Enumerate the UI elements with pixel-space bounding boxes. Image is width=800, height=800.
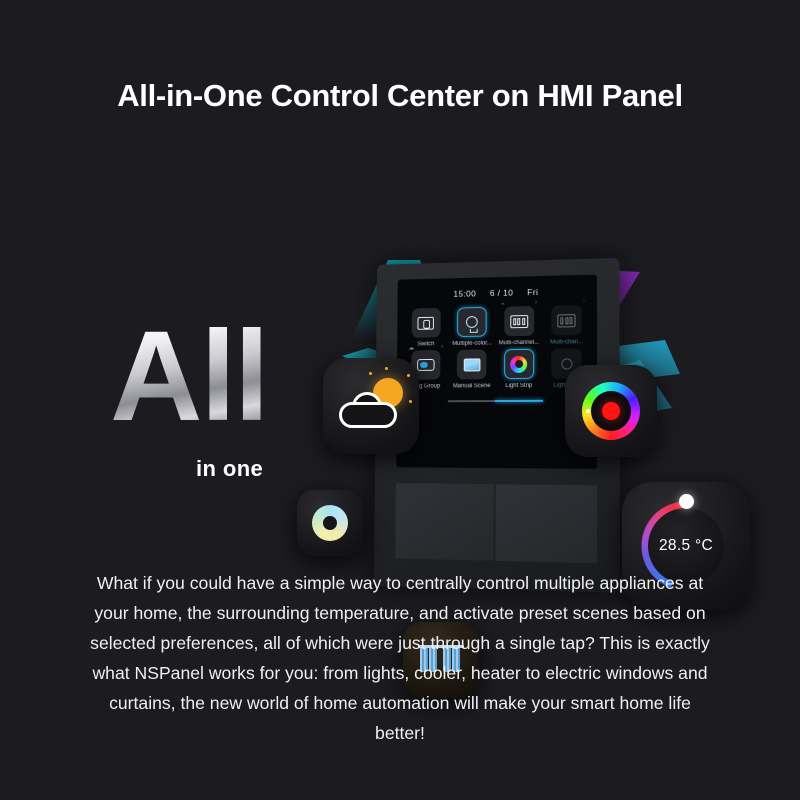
- hero-illustration: All in one 15:00 6 / 10 Fri Switch: [0, 160, 800, 560]
- scene-image-icon: [463, 358, 480, 371]
- rgb-ring-icon: [510, 355, 527, 372]
- bulb-icon: [466, 316, 478, 328]
- weather-bubble[interactable]: [323, 358, 419, 454]
- panel-tile-grid: Switch Multiple-color... ⌁ › Multi-chann…: [397, 296, 597, 390]
- panel-tile-multi-channel-1[interactable]: ⌁ › Multi-channel...: [496, 306, 541, 347]
- tile-label: Multi-chan...: [550, 339, 583, 345]
- lamp-icon: [561, 358, 572, 369]
- status-time: 15:00: [453, 288, 476, 298]
- status-date: 6 / 10: [490, 288, 513, 298]
- page-dot-1[interactable]: [448, 400, 495, 402]
- chevron-right-icon[interactable]: ›: [583, 299, 585, 305]
- gradient-ring-icon: [312, 505, 348, 541]
- tile-label: Light Strip: [505, 383, 532, 389]
- wifi-icon: ⌁: [501, 301, 505, 308]
- body-paragraph: What if you could have a simple way to c…: [84, 568, 716, 748]
- cloud-icon: [339, 392, 397, 428]
- multi-channel-icon: [510, 315, 528, 328]
- panel-physical-buttons[interactable]: [395, 483, 597, 563]
- plug-toggle-icon: [417, 359, 434, 371]
- color-temp-bubble[interactable]: [297, 490, 363, 556]
- page-title: All-in-One Control Center on HMI Panel: [0, 78, 800, 114]
- color-handle[interactable]: [586, 409, 590, 413]
- panel-tile-multiple-color[interactable]: Multiple-color...: [450, 307, 495, 347]
- promo-banner: All-in-One Control Center on HMI Panel: [0, 0, 800, 800]
- wordmark-all: All: [110, 318, 315, 443]
- wordmark-subtitle: in one: [196, 456, 263, 482]
- tile-label: Switch: [417, 341, 434, 347]
- status-weekday: Fri: [527, 287, 538, 297]
- panel-tile-multi-channel-2[interactable]: › Multi-chan...: [544, 305, 590, 346]
- physical-button-left[interactable]: [395, 483, 493, 561]
- panel-tile-switch[interactable]: Switch: [404, 308, 448, 348]
- physical-button-right[interactable]: [495, 484, 597, 563]
- cloud-icon: ☁: [408, 345, 414, 352]
- tile-label: Manual Scene: [453, 383, 491, 389]
- tile-label: Multiple-color...: [452, 340, 492, 346]
- multi-channel-icon: [558, 314, 576, 327]
- color-wheel-icon[interactable]: [582, 382, 640, 440]
- switch-icon: [418, 316, 434, 329]
- page-dot-2[interactable]: [495, 400, 543, 402]
- panel-tile-manual-scene[interactable]: Manual Scene: [449, 349, 494, 389]
- selected-color-swatch: [602, 402, 620, 420]
- panel-tile-light-strip[interactable]: Light Strip: [496, 349, 542, 389]
- chevron-right-icon[interactable]: ›: [441, 344, 443, 350]
- tile-label: Multi-channel...: [499, 340, 540, 347]
- chevron-right-icon[interactable]: ›: [535, 300, 537, 306]
- color-wheel-bubble[interactable]: [565, 365, 657, 457]
